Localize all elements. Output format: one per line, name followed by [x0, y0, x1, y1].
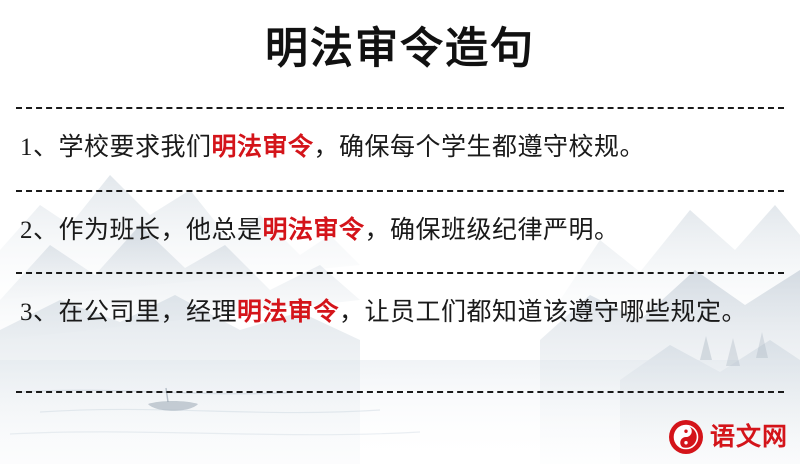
sentence-text-after-2: ，确保班级纪律严明。 [365, 217, 620, 244]
sentence-highlight-1: 明法审令 [212, 134, 314, 161]
sentence-item-3: 3、在公司里，经理明法审令，让员工们都知道该遵守哪些规定。 [20, 291, 780, 335]
document-page: 明法审令造句 1、学校要求我们明法审令，确保每个学生都遵守校规。 2、作为班长，… [0, 0, 800, 464]
divider-line-1 [16, 107, 784, 109]
sentence-text-after-3: ，让员工们都知道该遵守哪些规定。 [339, 299, 747, 326]
sentence-text-after-1: ，确保每个学生都遵守校规。 [314, 134, 646, 161]
sentence-text-before-2: 作为班长，他总是 [59, 217, 263, 244]
sentence-index-1: 1、 [20, 134, 59, 161]
sentence-text-before-1: 学校要求我们 [59, 134, 212, 161]
sentence-highlight-3: 明法审令 [237, 299, 339, 326]
sentence-item-2: 2、作为班长，他总是明法审令，确保班级纪律严明。 [20, 209, 780, 253]
sentence-text-before-3: 在公司里，经理 [59, 299, 238, 326]
watermark: 语文网 [669, 420, 788, 454]
divider-line-3 [16, 272, 784, 274]
sentence-item-1: 1、学校要求我们明法审令，确保每个学生都遵守校规。 [20, 126, 780, 170]
sentence-index-3: 3、 [20, 299, 59, 326]
divider-line-2 [16, 190, 784, 192]
sentence-index-2: 2、 [20, 217, 59, 244]
divider-line-4 [16, 391, 784, 393]
yin-yang-icon [669, 420, 703, 454]
page-title: 明法审令造句 [0, 22, 800, 76]
sentence-highlight-2: 明法审令 [263, 217, 365, 244]
watermark-label: 语文网 [710, 423, 788, 451]
